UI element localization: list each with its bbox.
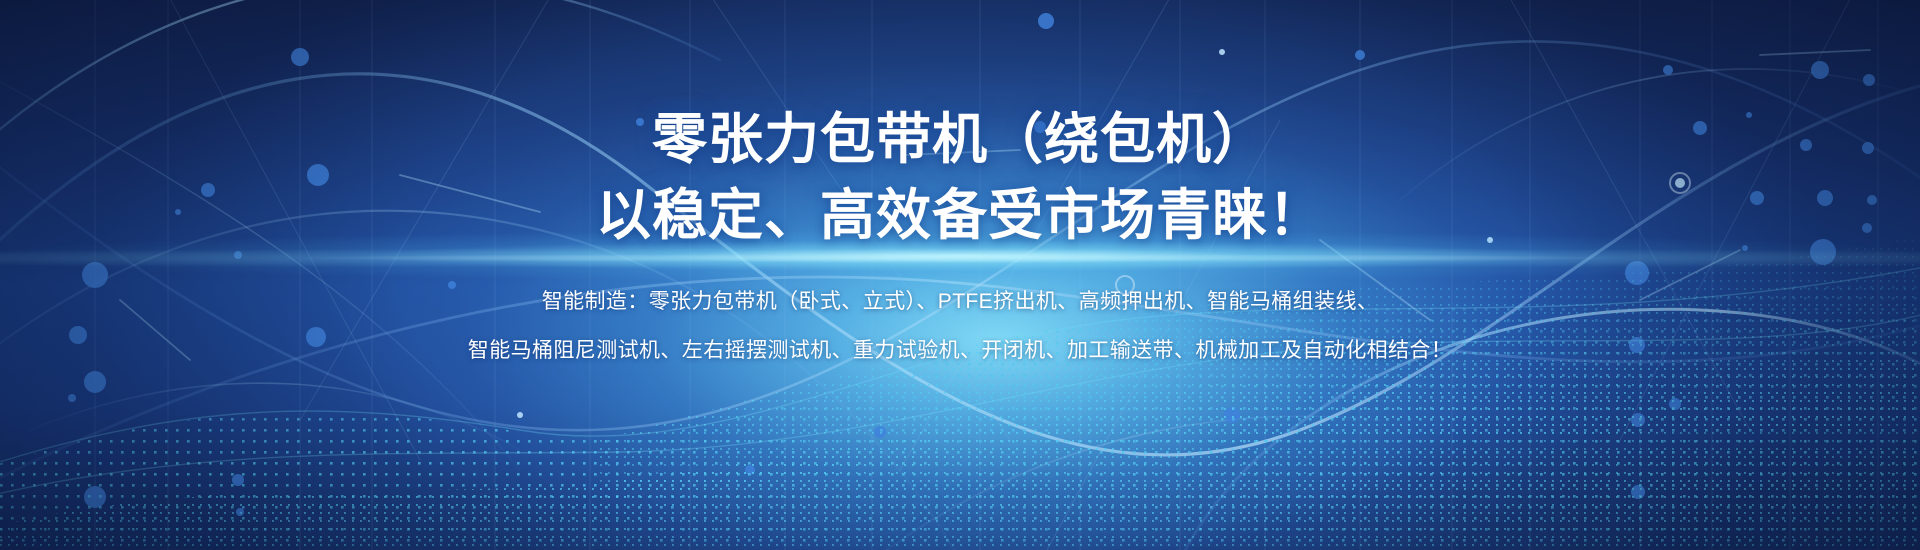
banner-content: 零张力包带机（绕包机） 以稳定、高效备受市场青睐！ 智能制造：零张力包带机（卧式… bbox=[0, 0, 1920, 550]
banner-subheadline-line-2: 智能马桶阻尼测试机、左右摇摆测试机、重力试验机、开闭机、加工输送带、机械加工及自… bbox=[468, 336, 1452, 366]
banner-subheadline-line-1: 智能制造：零张力包带机（卧式、立式）、PTFE挤出机、高频押出机、智能马桶组装线… bbox=[542, 287, 1379, 317]
hero-banner: 零张力包带机（绕包机） 以稳定、高效备受市场青睐！ 智能制造：零张力包带机（卧式… bbox=[0, 0, 1920, 550]
banner-headline-line-2: 以稳定、高效备受市场青睐！ bbox=[596, 180, 1324, 250]
banner-headline-line-1: 零张力包带机（绕包机） bbox=[652, 104, 1268, 174]
